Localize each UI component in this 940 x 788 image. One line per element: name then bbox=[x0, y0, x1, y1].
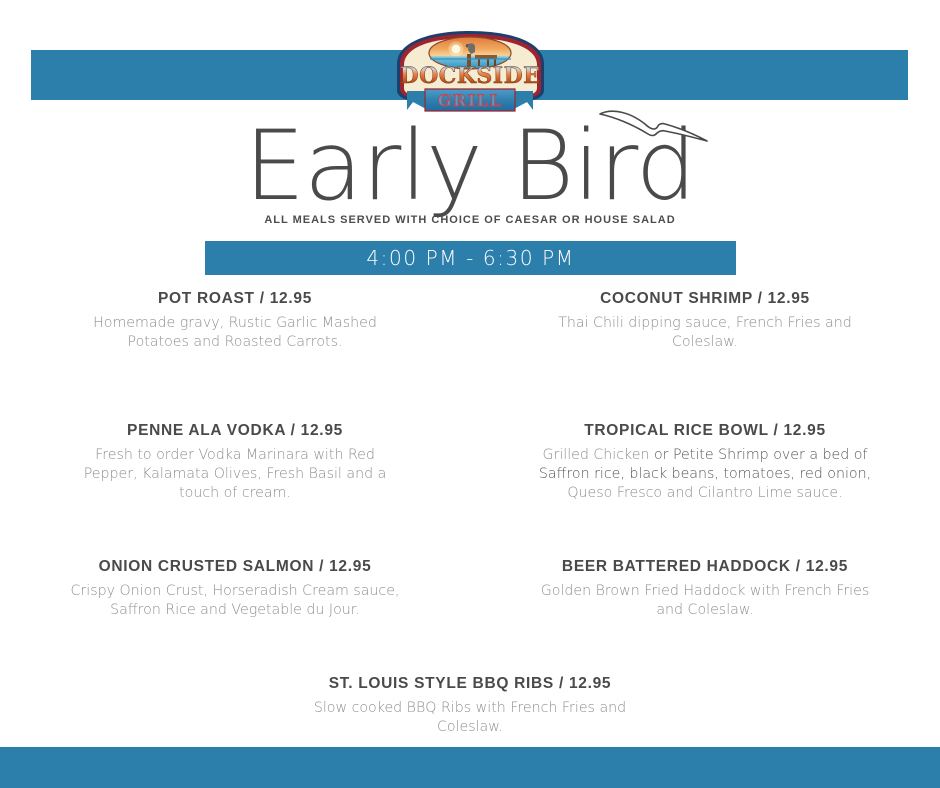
menu-item-name: TROPICAL RICE BOWL / 12.95 bbox=[538, 422, 872, 440]
menu-item-description: Golden Brown Fried Haddock with French F… bbox=[538, 582, 872, 620]
menu-item-description: Grilled Chicken or Petite Shrimp over a … bbox=[538, 446, 872, 503]
time-banner: 4:00 PM - 6:30 PM bbox=[205, 241, 736, 275]
menu-item: COCONUT SHRIMP / 12.95 Thai Chili dippin… bbox=[470, 290, 940, 352]
page-title: Early Bird bbox=[0, 118, 940, 214]
menu-item-name: POT ROAST / 12.95 bbox=[68, 290, 402, 308]
menu-item-name: PENNE ALA VODKA / 12.95 bbox=[68, 422, 402, 440]
menu-item-name: BEER BATTERED HADDOCK / 12.95 bbox=[538, 558, 872, 576]
logo-wordmark: DOCKSIDE bbox=[400, 63, 541, 89]
menu-item: POT ROAST / 12.95 Homemade gravy, Rustic… bbox=[0, 290, 470, 352]
menu-item-description: Thai Chili dipping sauce, French Fries a… bbox=[538, 314, 872, 352]
menu-item-description: Homemade gravy, Rustic Garlic Mashed Pot… bbox=[68, 314, 402, 352]
seagull-icon bbox=[596, 106, 711, 148]
menu-item: PENNE ALA VODKA / 12.95 Fresh to order V… bbox=[0, 422, 470, 503]
menu-item: ST. LOUIS STYLE BBQ RIBS / 12.95 Slow co… bbox=[235, 675, 705, 737]
logo-banner-word: GRILL bbox=[438, 91, 502, 110]
menu-item-description: Crispy Onion Crust, Horseradish Cream sa… bbox=[68, 582, 402, 620]
menu-item-name: ST. LOUIS STYLE BBQ RIBS / 12.95 bbox=[295, 675, 645, 693]
menu-row: ST. LOUIS STYLE BBQ RIBS / 12.95 Slow co… bbox=[0, 675, 940, 737]
menu-row: POT ROAST / 12.95 Homemade gravy, Rustic… bbox=[0, 290, 940, 352]
menu-item: BEER BATTERED HADDOCK / 12.95 Golden Bro… bbox=[470, 558, 940, 620]
menu-item-description: Slow cooked BBQ Ribs with French Fries a… bbox=[295, 699, 645, 737]
menu-item-description-light: Grilled Chicken bbox=[543, 447, 654, 463]
menu-item-name: COCONUT SHRIMP / 12.95 bbox=[538, 290, 872, 308]
menu-item-description-tail: Queso Fresco and Cilantro Lime sauce. bbox=[567, 485, 842, 501]
menu-item: TROPICAL RICE BOWL / 12.95 Grilled Chick… bbox=[470, 422, 940, 503]
row-spacer bbox=[0, 352, 940, 422]
menu-item: ONION CRUSTED SALMON / 12.95 Crispy Onio… bbox=[0, 558, 470, 620]
menu-row: PENNE ALA VODKA / 12.95 Fresh to order V… bbox=[0, 422, 940, 503]
row-spacer bbox=[0, 620, 940, 675]
menu-list: POT ROAST / 12.95 Homemade gravy, Rustic… bbox=[0, 290, 940, 737]
row-spacer bbox=[0, 503, 940, 558]
bottom-blue-band bbox=[0, 747, 940, 788]
time-banner-text: 4:00 PM - 6:30 PM bbox=[366, 246, 574, 270]
menu-item-name: ONION CRUSTED SALMON / 12.95 bbox=[68, 558, 402, 576]
dockside-grill-logo: DOCKSIDE GRILL bbox=[383, 26, 558, 118]
menu-item-description: Fresh to order Vodka Marinara with Red P… bbox=[68, 446, 402, 503]
menu-row: ONION CRUSTED SALMON / 12.95 Crispy Onio… bbox=[0, 558, 940, 620]
